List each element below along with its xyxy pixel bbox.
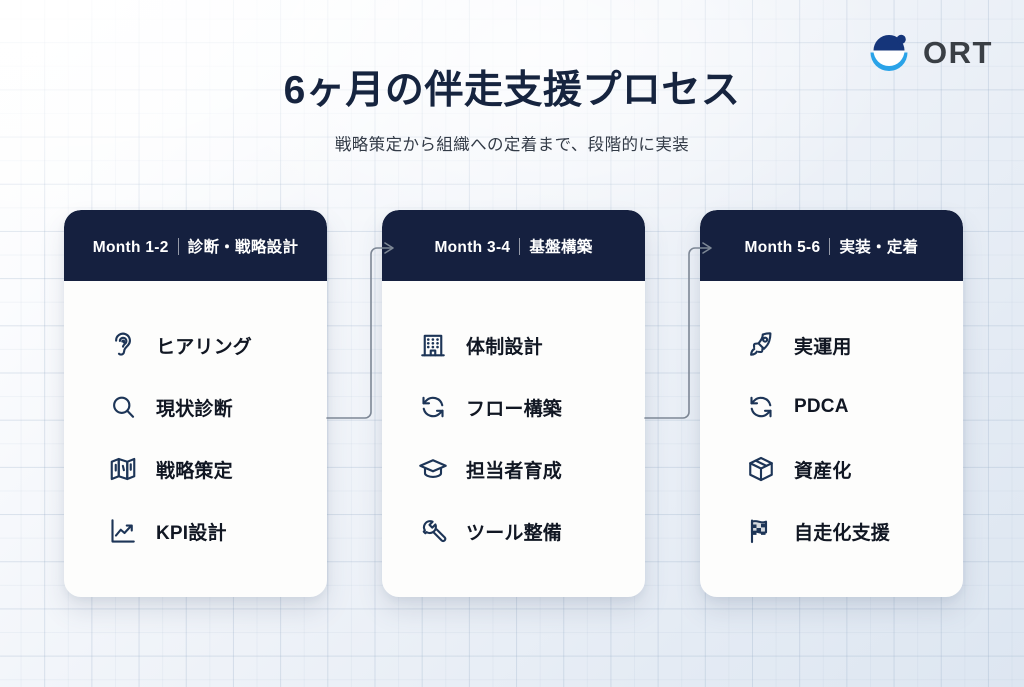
list-item-label: 資産化 <box>794 456 852 483</box>
list-item-label: 現状診断 <box>156 394 233 421</box>
phase-card-1-phase: 診断・戦略設計 <box>188 239 299 256</box>
map-icon <box>108 454 138 484</box>
phase-card-1: Month 1-2診断・戦略設計 ヒアリング 現状診断 <box>64 210 327 597</box>
list-item: 戦略策定 <box>64 438 327 500</box>
list-item-label: ヒアリング <box>156 332 252 359</box>
list-item-label: PDCA <box>794 396 849 418</box>
list-item: ツール整備 <box>382 500 645 562</box>
search-icon <box>108 392 138 422</box>
phase-card-2: Month 3-4基盤構築 体制設計 <box>382 210 645 597</box>
phase-card-3-phase: 実装・定着 <box>839 239 918 256</box>
wrench-icon <box>418 516 448 546</box>
list-item: 自走化支援 <box>700 500 963 562</box>
list-item-label: ツール整備 <box>466 518 562 545</box>
header-separator <box>519 238 520 255</box>
list-item-label: フロー構築 <box>466 394 562 421</box>
phase-card-3-month: Month 5-6 <box>745 239 821 256</box>
phase-card-3-header: Month 5-6実装・定着 <box>700 210 963 281</box>
list-item: フロー構築 <box>382 376 645 438</box>
phase-card-3-body: 実運用 PDCA 資産化 <box>700 281 963 562</box>
phase-card-2-phase: 基盤構築 <box>529 239 592 256</box>
page-title: 6ヶ月の伴走支援プロセス <box>0 69 1024 114</box>
refresh-cycle-icon <box>418 392 448 422</box>
graduation-cap-icon <box>418 454 448 484</box>
phase-card-1-body: ヒアリング 現状診断 戦略策定 <box>64 281 327 562</box>
list-item-label: 担当者育成 <box>466 456 562 483</box>
chart-line-icon <box>108 516 138 546</box>
logo-wordmark: ORT <box>923 37 993 68</box>
phase-card-1-header: Month 1-2診断・戦略設計 <box>64 210 327 281</box>
rocket-icon <box>746 330 776 360</box>
list-item: KPI設計 <box>64 500 327 562</box>
list-item-label: 実運用 <box>794 332 852 359</box>
ear-icon <box>108 330 138 360</box>
page-subtitle: 戦略策定から組織への定着まで、段階的に実装 <box>0 131 1024 155</box>
list-item-label: 体制設計 <box>466 332 543 359</box>
list-item: PDCA <box>700 376 963 438</box>
phase-card-2-header-text: Month 3-4基盤構築 <box>434 235 592 257</box>
phase-card-1-month: Month 1-2 <box>93 239 169 256</box>
phase-card-2-month: Month 3-4 <box>434 239 510 256</box>
list-item: 担当者育成 <box>382 438 645 500</box>
box-icon <box>746 454 776 484</box>
phase-card-2-header: Month 3-4基盤構築 <box>382 210 645 281</box>
phase-card-1-header-text: Month 1-2診断・戦略設計 <box>93 235 299 257</box>
list-item-label: 戦略策定 <box>156 456 233 483</box>
header-separator <box>829 238 830 255</box>
phase-card-3: Month 5-6実装・定着 実運用 <box>700 210 963 597</box>
building-icon <box>418 330 448 360</box>
list-item: ヒアリング <box>64 314 327 376</box>
list-item: 現状診断 <box>64 376 327 438</box>
list-item: 実運用 <box>700 314 963 376</box>
list-item: 資産化 <box>700 438 963 500</box>
header-separator <box>178 238 179 255</box>
list-item-label: 自走化支援 <box>794 518 890 545</box>
list-item-label: KPI設計 <box>156 518 227 545</box>
list-item: 体制設計 <box>382 314 645 376</box>
phase-card-2-body: 体制設計 フロー構築 担当者育成 <box>382 281 645 562</box>
refresh-cycle-icon <box>746 392 776 422</box>
checkered-flag-icon <box>746 516 776 546</box>
phase-card-3-header-text: Month 5-6実装・定着 <box>745 235 919 257</box>
